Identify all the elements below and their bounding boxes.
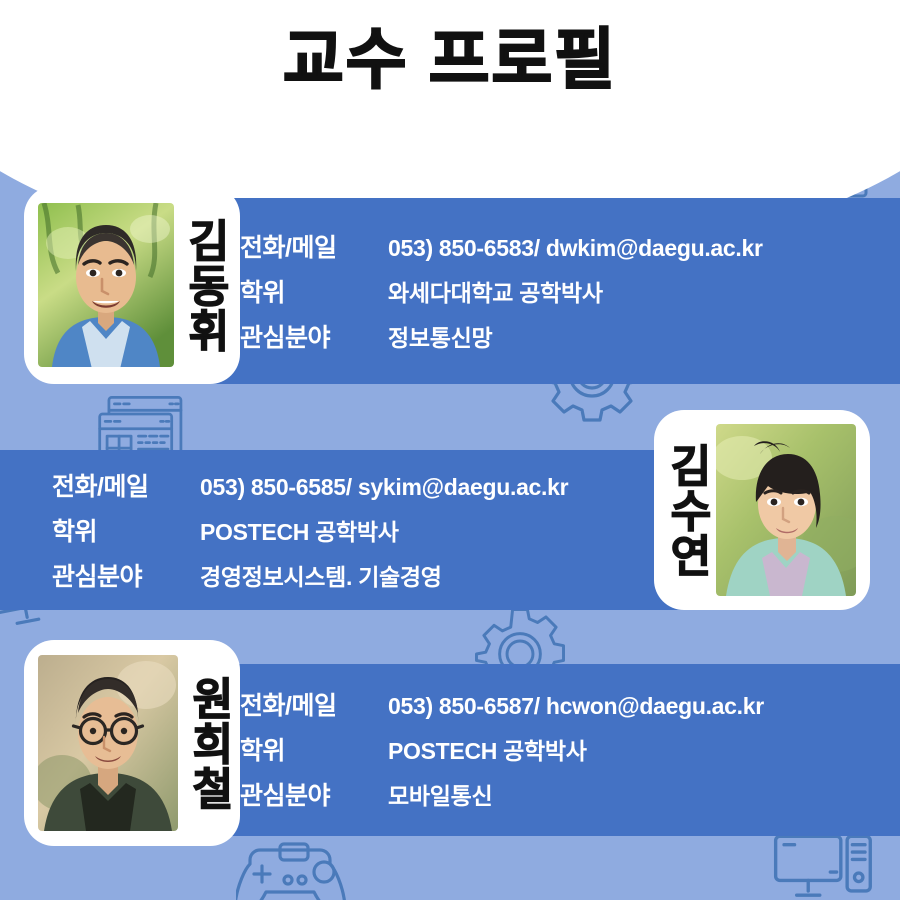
label-degree: 학위 [240,273,388,309]
professor-name: 김수연 [656,443,716,578]
photo-tile-3: 원희철 [24,640,240,846]
info-row-contact: 전화/메일 053) 850-6583/ dwkim@daegu.ac.kr [240,228,880,264]
info-lines-3: 전화/메일 053) 850-6587/ hcwon@daegu.ac.kr 학… [240,682,880,816]
value-contact: 053) 850-6587/ hcwon@daegu.ac.kr [388,693,764,720]
avatar [38,655,178,831]
value-interest: 모바일통신 [388,777,492,811]
value-interest: 정보통신망 [388,319,492,353]
info-lines-1: 전화/메일 053) 850-6583/ dwkim@daegu.ac.kr 학… [240,224,880,358]
label-degree: 학위 [52,512,200,548]
info-lines-2: 전화/메일 053) 850-6585/ sykim@daegu.ac.kr 학… [52,466,692,594]
label-degree: 학위 [240,731,388,767]
label-contact: 전화/메일 [240,228,388,264]
info-row-interest: 관심분야 정보통신망 [240,318,880,354]
professor-name: 김동휘 [174,218,234,353]
info-row-interest: 관심분야 경영정보시스템. 기술경영 [52,557,692,593]
photo-tile-1: 김동휘 [24,186,240,384]
value-interest: 경영정보시스템. 기술경영 [200,558,442,592]
info-row-degree: 학위 POSTECH 공학박사 [240,731,880,767]
photo-tile-2: 김수연 [654,410,870,610]
professor-name: 원희철 [178,676,238,811]
info-row-interest: 관심분야 모바일통신 [240,776,880,812]
value-contact: 053) 850-6583/ dwkim@daegu.ac.kr [388,235,763,262]
info-row-contact: 전화/메일 053) 850-6585/ sykim@daegu.ac.kr [52,467,692,503]
avatar [716,424,856,596]
info-row-degree: 학위 POSTECH 공학박사 [52,512,692,548]
value-contact: 053) 850-6585/ sykim@daegu.ac.kr [200,474,568,501]
value-degree: 와세다대학교 공학박사 [388,274,603,308]
info-row-contact: 전화/메일 053) 850-6587/ hcwon@daegu.ac.kr [240,686,880,722]
value-degree: POSTECH 공학박사 [200,513,399,547]
desktop-computer-icon [770,830,878,900]
avatar [38,203,174,367]
game-controller-icon [236,836,354,900]
poster-canvas: 교수 프로필 [0,0,900,900]
page-title: 교수 프로필 [0,22,900,98]
label-interest: 관심분야 [240,776,388,812]
label-contact: 전화/메일 [52,467,200,503]
value-degree: POSTECH 공학박사 [388,732,587,766]
info-row-degree: 학위 와세다대학교 공학박사 [240,273,880,309]
label-interest: 관심분야 [240,318,388,354]
label-interest: 관심분야 [52,557,200,593]
label-contact: 전화/메일 [240,686,388,722]
